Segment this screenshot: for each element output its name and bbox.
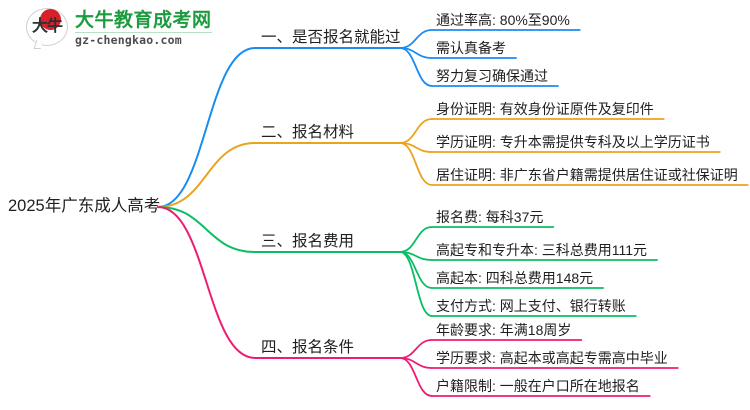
leaf-node-label[interactable]: 学历要求: 高起本或高起专需高中毕业: [436, 351, 668, 365]
logo-emblem-icon: 大牛: [26, 8, 68, 50]
connector-path: [400, 252, 432, 288]
connector-path: [400, 227, 432, 252]
logo-subtitle: gz-chengkao.com: [75, 35, 212, 47]
branch-node-label[interactable]: 一、是否报名就能过: [261, 30, 401, 46]
leaf-node-label[interactable]: 支付方式: 网上支付、银行转账: [436, 299, 626, 313]
leaf-node-label[interactable]: 需认真备考: [436, 41, 506, 55]
branch-node-label[interactable]: 三、报名费用: [261, 234, 354, 250]
connector-path: [400, 48, 432, 86]
branch-node-label[interactable]: 四、报名条件: [261, 340, 354, 356]
leaf-node-label[interactable]: 高起专和专升本: 三科总费用111元: [436, 243, 647, 257]
leaf-node-label[interactable]: 户籍限制: 一般在户口所在地报名: [436, 379, 640, 393]
connector-path: [400, 358, 432, 396]
connector-path: [400, 252, 432, 260]
site-logo: 大牛 大牛教育成考网 gz-chengkao.com: [26, 6, 212, 52]
connector-path: [400, 143, 432, 152]
connector-path: [158, 207, 400, 358]
connector-path: [400, 358, 432, 368]
connector-path: [400, 119, 432, 143]
mindmap-canvas: 大牛 大牛教育成考网 gz-chengkao.com 2025年广东成人高考 一…: [0, 0, 750, 410]
leaf-node-label[interactable]: 高起本: 四科总费用148元: [436, 271, 593, 285]
branch-node-label[interactable]: 二、报名材料: [261, 125, 354, 141]
leaf-node-label[interactable]: 年龄要求: 年满18周岁: [436, 323, 571, 337]
connector-path: [400, 252, 432, 316]
root-node-label[interactable]: 2025年广东成人高考: [8, 198, 160, 215]
connector-path: [400, 143, 432, 185]
connector-path: [400, 340, 432, 358]
leaf-node-label[interactable]: 身份证明: 有效身份证原件及复印件: [436, 102, 654, 116]
leaf-node-label[interactable]: 居住证明: 非广东省户籍需提供居住证或社保证明: [436, 168, 738, 182]
connector-path: [400, 48, 432, 58]
logo-wordmark: 大牛教育成考网 gz-chengkao.com: [75, 11, 212, 47]
leaf-node-label[interactable]: 通过率高: 80%至90%: [436, 13, 570, 27]
connector-path: [158, 143, 400, 207]
leaf-node-label[interactable]: 学历证明: 专升本需提供专科及以上学历证书: [436, 135, 710, 149]
logo-emblem-text: 大牛: [26, 8, 68, 46]
leaf-node-label[interactable]: 报名费: 每科37元: [436, 210, 543, 224]
leaf-node-label[interactable]: 努力复习确保通过: [436, 69, 548, 83]
logo-title: 大牛教育成考网: [75, 11, 212, 30]
connector-path: [400, 30, 432, 48]
